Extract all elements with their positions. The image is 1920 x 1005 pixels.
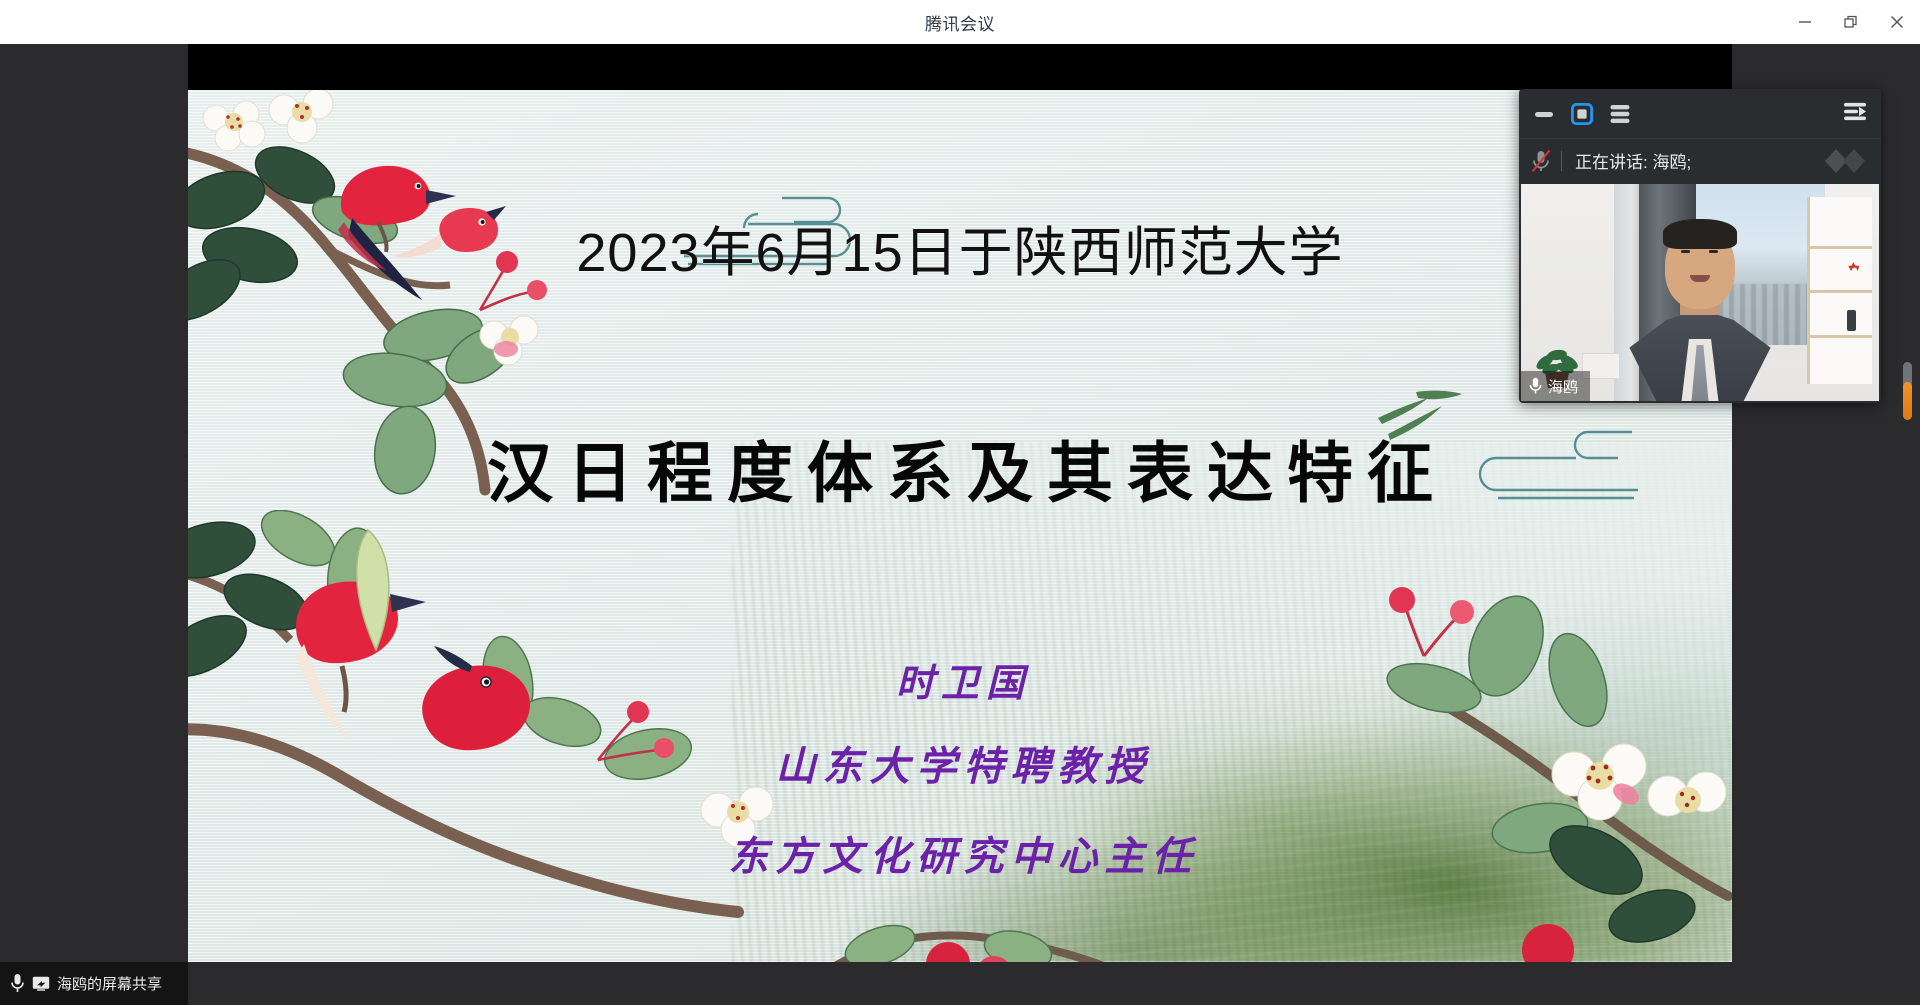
tencent-meeting-logo-icon: [1809, 144, 1871, 178]
audio-level-meter: [1903, 362, 1912, 420]
window-title-bar: 腾讯会议: [0, 0, 1920, 44]
screen-share-status-bar: 海鸥的屏幕共享: [0, 962, 188, 1005]
speaking-status-row: 正在讲话: 海鸥;: [1519, 138, 1881, 182]
audio-level-fill: [1903, 382, 1912, 420]
background-remote-control: [1847, 310, 1856, 331]
participant-video-tile[interactable]: 海鸥: [1521, 184, 1879, 401]
author-name: 时卫国: [188, 664, 1732, 702]
close-button[interactable]: [1874, 0, 1920, 44]
window-controls: [1782, 0, 1920, 44]
minimize-button[interactable]: [1782, 0, 1828, 44]
participant-name-text: 海鸥: [1548, 376, 1578, 397]
person-hair: [1663, 219, 1737, 249]
panel-toolbar: [1519, 89, 1881, 138]
window-title: 腾讯会议: [925, 10, 995, 35]
background-shelf: [1807, 197, 1871, 384]
restore-icon: [1844, 15, 1858, 29]
participant-video-panel[interactable]: 正在讲话: 海鸥;: [1519, 89, 1881, 403]
panel-minimize-icon: [1533, 103, 1555, 125]
slide-date-line: 2023年6月15日于陕西师范大学: [188, 208, 1732, 287]
person-eye-left: [1681, 250, 1690, 253]
speaking-status-text: 正在讲话: 海鸥;: [1575, 148, 1691, 173]
author-title-2: 东方文化研究中心主任: [188, 824, 1732, 882]
screen-share-label: 海鸥的屏幕共享: [57, 973, 162, 994]
gallery-view-icon: [1609, 103, 1631, 125]
panel-minimize-button[interactable]: [1533, 103, 1555, 125]
slide-author-block: 时卫国 山东大学特聘教授 东方文化研究中心主任: [188, 664, 1732, 882]
restore-button[interactable]: [1828, 0, 1874, 44]
screen-share-icon: [32, 976, 50, 991]
shared-screen-area: 2023年6月15日于陕西师范大学 汉日程度体系及其表达特征 时卫国 山东大学特…: [188, 44, 1732, 962]
floral-art-bottom-center: [788, 880, 1148, 962]
close-icon: [1890, 15, 1904, 29]
speaker-view-icon: [1571, 103, 1593, 125]
microphone-icon: [10, 973, 25, 994]
status-divider: [1561, 151, 1562, 171]
meeting-stage: 2023年6月15日于陕西师范大学 汉日程度体系及其表达特征 时卫国 山东大学特…: [0, 44, 1920, 1005]
speaker-view-button[interactable]: [1571, 103, 1593, 125]
participant-name-badge: 海鸥: [1521, 371, 1590, 401]
microphone-muted-icon: [1531, 149, 1551, 173]
collapse-panel-button[interactable]: [1843, 100, 1867, 127]
gallery-view-button[interactable]: [1609, 103, 1631, 125]
minimize-icon: [1798, 15, 1812, 29]
person-eye-right: [1709, 250, 1718, 253]
collapse-right-icon: [1843, 100, 1867, 122]
presentation-slide: 2023年6月15日于陕西师范大学 汉日程度体系及其表达特征 时卫国 山东大学特…: [188, 90, 1732, 962]
slide-main-title: 汉日程度体系及其表达特征: [188, 420, 1732, 516]
author-title-1: 山东大学特聘教授: [188, 734, 1732, 792]
microphone-icon: [1529, 377, 1542, 395]
